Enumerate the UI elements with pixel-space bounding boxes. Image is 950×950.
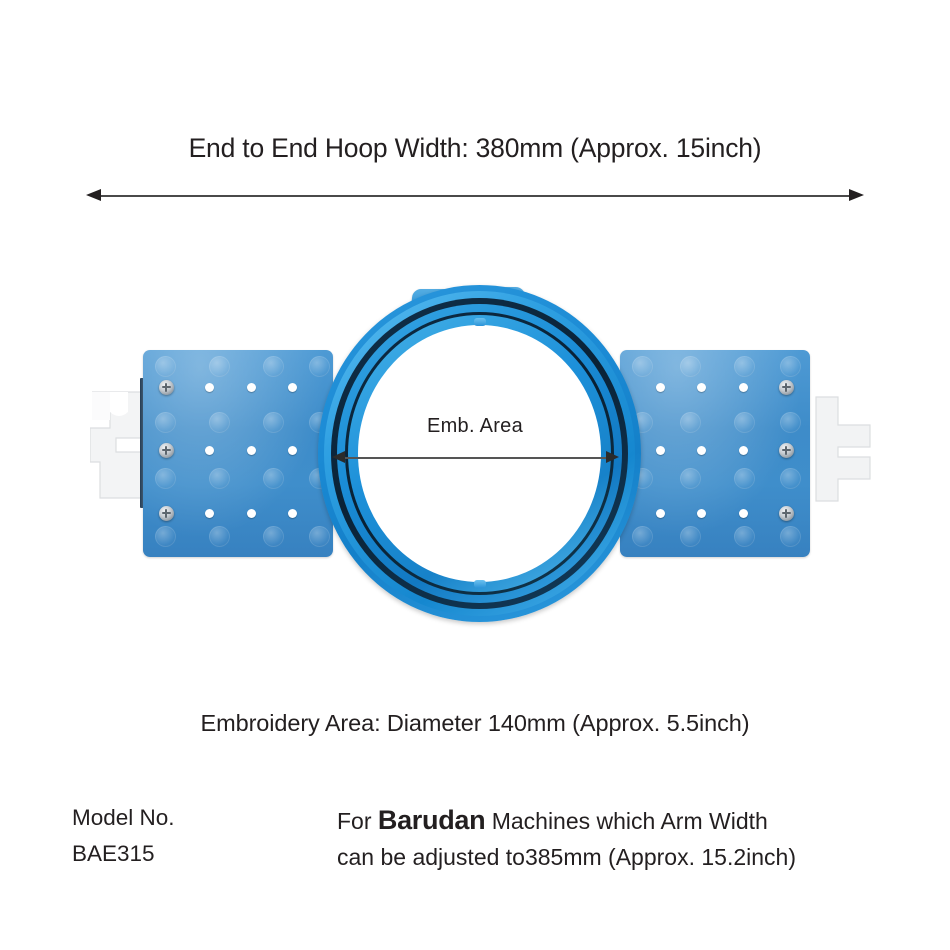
dimension-arrow-left-icon <box>86 189 101 201</box>
plate-screw <box>159 443 174 458</box>
emb-area-dimension-line <box>340 457 612 459</box>
end-to-end-width-label: End to End Hoop Width: 380mm (Approx. 15… <box>0 133 950 164</box>
plate-screw <box>159 506 174 521</box>
brand-name: Barudan <box>378 805 485 835</box>
hoop-alignment-nub-top <box>474 318 486 326</box>
compatibility-prefix: For <box>337 808 372 834</box>
emb-area-callout-label: Emb. Area <box>0 415 950 438</box>
model-number-block: Model No. BAE315 <box>72 800 175 872</box>
emb-arrow-left-icon <box>332 451 345 463</box>
left-mounting-plate <box>143 350 333 557</box>
compatibility-line-2: can be adjusted to385mm (Approx. 15.2inc… <box>337 839 796 875</box>
dimension-arrow-right-icon <box>849 189 864 201</box>
hoop-assembly-illustration <box>0 250 950 650</box>
right-mounting-plate <box>620 350 810 557</box>
emb-arrow-right-icon <box>606 451 619 463</box>
plate-screw <box>779 380 794 395</box>
model-caption: Model No. <box>72 800 175 836</box>
hoop-alignment-nub-bottom <box>474 580 486 588</box>
model-number: BAE315 <box>72 836 175 872</box>
hoop-embroidery-field <box>358 325 601 582</box>
machine-compatibility-block: For Barudan Machines which Arm Width can… <box>337 802 796 875</box>
compatibility-suffix: Machines which Arm Width <box>492 808 768 834</box>
product-diagram-canvas: End to End Hoop Width: 380mm (Approx. 15… <box>0 0 950 950</box>
embroidery-hoop <box>318 285 641 622</box>
compatibility-line-1: For Barudan Machines which Arm Width <box>337 802 796 839</box>
end-to-end-dimension-line <box>93 195 855 197</box>
right-clamp-bracket-icon <box>812 395 872 503</box>
embroidery-area-label: Embroidery Area: Diameter 140mm (Approx.… <box>0 710 950 737</box>
plate-screw <box>159 380 174 395</box>
plate-screw <box>779 506 794 521</box>
plate-screw <box>779 443 794 458</box>
